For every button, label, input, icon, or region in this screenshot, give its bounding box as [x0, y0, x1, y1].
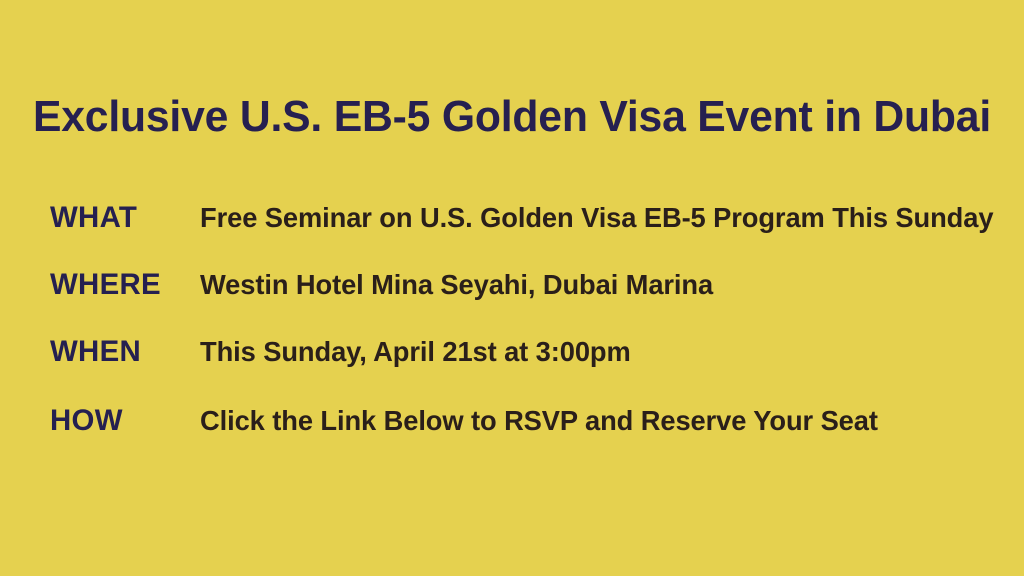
- detail-row-where: WHERE Westin Hotel Mina Seyahi, Dubai Ma…: [50, 267, 1000, 334]
- detail-value-what: Free Seminar on U.S. Golden Visa EB-5 Pr…: [200, 200, 993, 236]
- detail-value-where: Westin Hotel Mina Seyahi, Dubai Marina: [200, 267, 980, 303]
- detail-label-how: HOW: [50, 403, 197, 439]
- detail-label-where: WHERE: [50, 267, 197, 303]
- event-details-list: WHAT Free Seminar on U.S. Golden Visa EB…: [50, 200, 1000, 470]
- detail-value-how: Click the Link Below to RSVP and Reserve…: [200, 403, 980, 439]
- detail-row-when: WHEN This Sunday, April 21st at 3:00pm: [50, 334, 1000, 401]
- detail-label-when: WHEN: [50, 334, 197, 370]
- detail-row-how: HOW Click the Link Below to RSVP and Res…: [50, 403, 1000, 470]
- detail-label-what: WHAT: [50, 200, 197, 236]
- page-title: Exclusive U.S. EB-5 Golden Visa Event in…: [15, 91, 1008, 143]
- detail-row-what: WHAT Free Seminar on U.S. Golden Visa EB…: [50, 200, 1000, 267]
- detail-value-when: This Sunday, April 21st at 3:00pm: [200, 334, 980, 370]
- event-announcement-slide: Exclusive U.S. EB-5 Golden Visa Event in…: [0, 0, 1024, 576]
